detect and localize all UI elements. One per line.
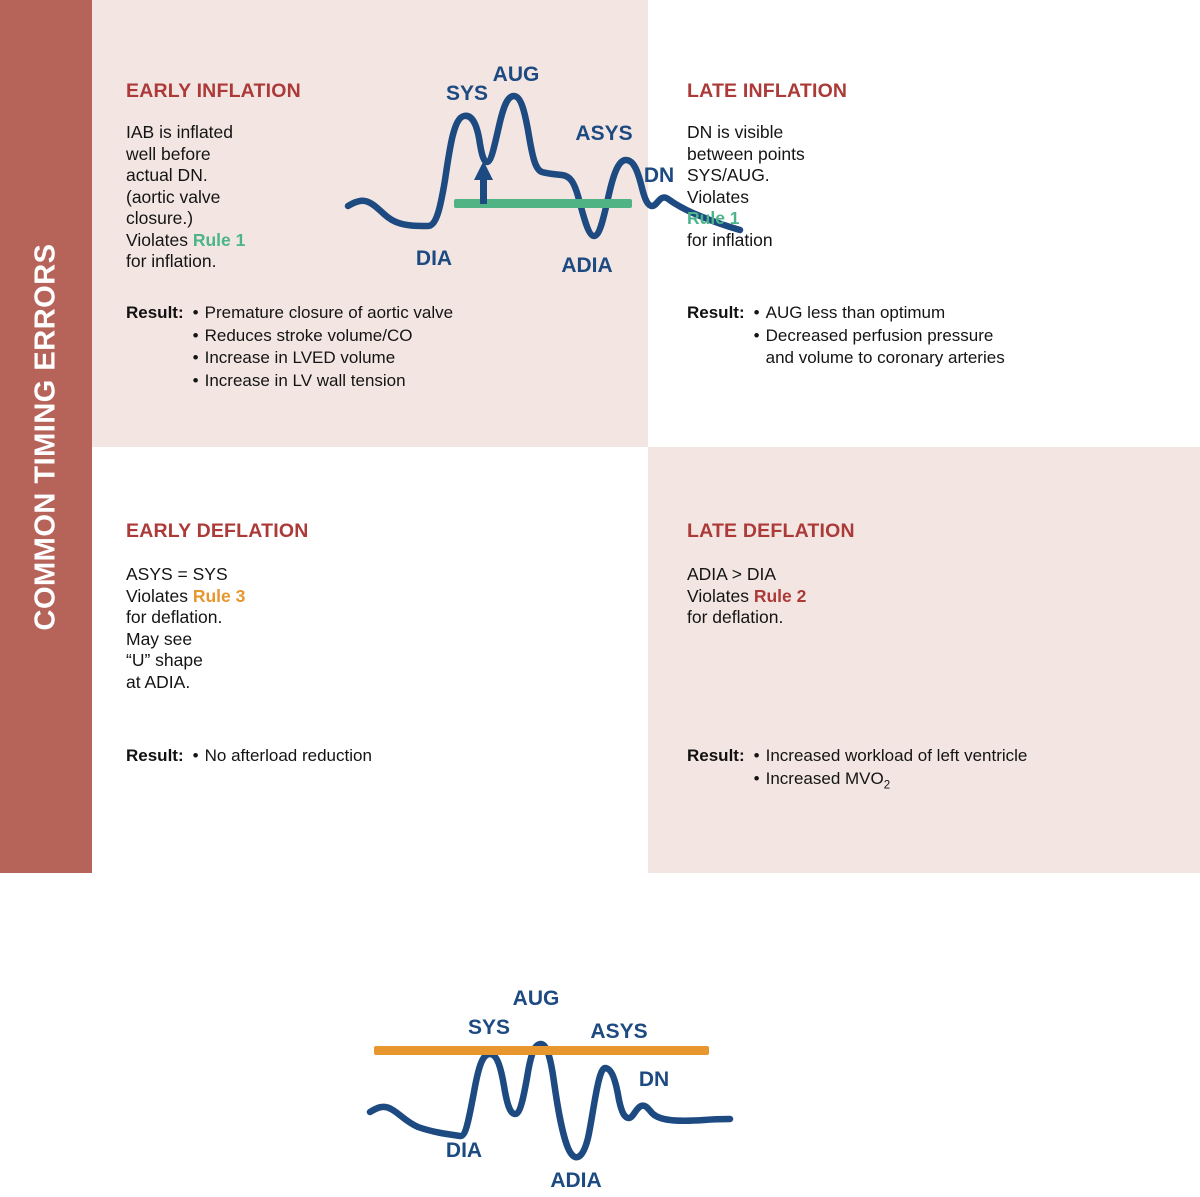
up-arrow-icon bbox=[474, 161, 493, 204]
desc-post-text: for deflation. bbox=[687, 607, 783, 627]
panel-title-early-deflation: EARLY DEFLATION bbox=[126, 520, 309, 543]
wave-label-dia: DIA bbox=[446, 1139, 482, 1162]
wave-label-dia: DIA bbox=[416, 247, 452, 270]
result-item: Premature closure of aortic valve bbox=[193, 302, 454, 325]
result-list-early-inflation: Premature closure of aortic valve Reduce… bbox=[193, 302, 454, 392]
waveform-early-deflation: SYS AUG ASYS DN DIA ADIA bbox=[364, 982, 734, 1197]
panel-title-late-deflation: LATE DEFLATION bbox=[687, 520, 855, 543]
result-item: Increase in LV wall tension bbox=[193, 370, 454, 393]
wave-label-adia: ADIA bbox=[561, 254, 612, 277]
panel-description-late-deflation: ADIA > DIA Violates Rule 2 for deflation… bbox=[687, 564, 897, 629]
panel-description-late-inflation: DN is visible between points SYS/AUG. Vi… bbox=[687, 122, 877, 251]
result-item: AUG less than optimum bbox=[754, 302, 1005, 325]
wave-label-asys: ASYS bbox=[575, 122, 632, 145]
rule-badge-early-deflation: Rule 3 bbox=[193, 586, 246, 606]
desc-pre-text: DN is visible between points SYS/AUG. Vi… bbox=[687, 122, 805, 207]
sidebar: COMMON TIMING ERRORS bbox=[0, 0, 92, 873]
result-item: Reduces stroke volume/CO bbox=[193, 325, 454, 348]
wave-label-aug: AUG bbox=[493, 63, 540, 86]
panel-title-late-inflation: LATE INFLATION bbox=[687, 80, 847, 103]
result-list-early-deflation: No afterload reduction bbox=[193, 745, 372, 768]
wave-label-dn: DN bbox=[639, 1068, 669, 1091]
wave-label-aug: AUG bbox=[513, 987, 560, 1010]
panel-description-early-deflation: ASYS = SYS Violates Rule 3 for deflation… bbox=[126, 564, 316, 693]
result-item: Increase in LVED volume bbox=[193, 347, 454, 370]
infographic-page: COMMON TIMING ERRORS EARLY INFLATION IAB… bbox=[0, 0, 1200, 873]
sidebar-title: COMMON TIMING ERRORS bbox=[30, 243, 63, 630]
panel-early-deflation: EARLY DEFLATION ASYS = SYS Violates Rule… bbox=[92, 447, 648, 873]
wave-label-sys: SYS bbox=[446, 82, 488, 105]
rule-badge-late-deflation: Rule 2 bbox=[754, 586, 807, 606]
deflation-timing-bar-orange bbox=[374, 1046, 709, 1055]
result-item: Increased workload of left ventricle bbox=[754, 745, 1028, 768]
arterial-waveform-path bbox=[370, 1044, 730, 1157]
wave-label-adia: ADIA bbox=[550, 1169, 601, 1192]
desc-post-text: for inflation bbox=[687, 230, 773, 250]
panel-late-inflation: LATE INFLATION DN is visible between poi… bbox=[648, 0, 1200, 447]
result-block-early-inflation: Result: Premature closure of aortic valv… bbox=[126, 302, 453, 392]
result-label: Result: bbox=[687, 745, 745, 766]
rule-badge-early-inflation: Rule 1 bbox=[193, 230, 246, 250]
panel-title-early-inflation: EARLY INFLATION bbox=[126, 80, 301, 103]
result-block-late-inflation: Result: AUG less than optimum Decreased … bbox=[687, 302, 1005, 370]
result-block-late-deflation: Result: Increased workload of left ventr… bbox=[687, 745, 1027, 796]
subscript-two: 2 bbox=[884, 779, 890, 791]
result-list-late-inflation: AUG less than optimum Decreased perfusio… bbox=[754, 302, 1005, 370]
desc-post-text: for deflation. May see “U” shape at ADIA… bbox=[126, 607, 222, 692]
result-item: No afterload reduction bbox=[193, 745, 372, 768]
result-label: Result: bbox=[126, 745, 184, 766]
result-label: Result: bbox=[126, 302, 184, 323]
result-list-late-deflation: Increased workload of left ventricle Inc… bbox=[754, 745, 1028, 796]
wave-label-asys: ASYS bbox=[590, 1020, 647, 1043]
result-label: Result: bbox=[687, 302, 745, 323]
wave-label-sys: SYS bbox=[468, 1016, 510, 1039]
rule-badge-late-inflation: Rule 1 bbox=[687, 208, 740, 228]
result-item: Decreased perfusion pressure bbox=[754, 325, 1005, 348]
result-item-mvo2: Increased MVO2 bbox=[754, 768, 1028, 797]
result-item-continuation: and volume to coronary arteries bbox=[754, 347, 1005, 370]
desc-post-text: for inflation. bbox=[126, 251, 216, 271]
panel-late-deflation: LATE DEFLATION ADIA > DIA Violates Rule … bbox=[648, 447, 1200, 873]
result-block-early-deflation: Result: No afterload reduction bbox=[126, 745, 372, 768]
panel-early-inflation: EARLY INFLATION IAB is inflated well bef… bbox=[92, 0, 648, 447]
panel-description-early-inflation: IAB is inflated well before actual DN. (… bbox=[126, 122, 306, 273]
